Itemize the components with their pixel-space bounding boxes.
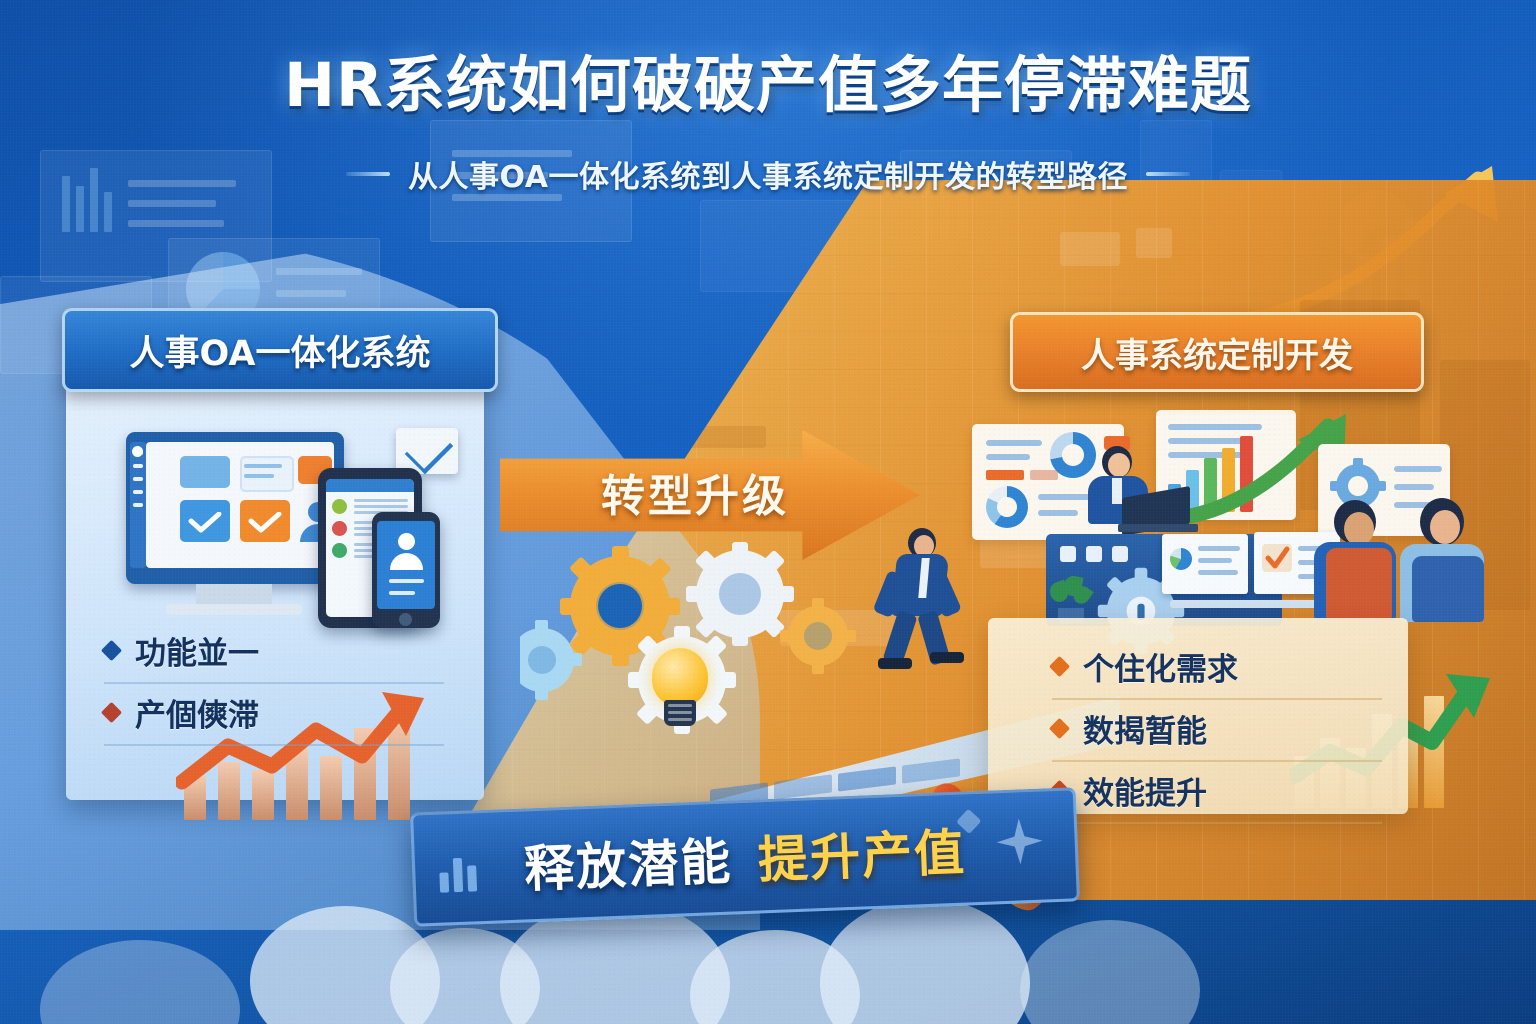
texture-overlay [0,0,1536,1024]
infographic-poster: HR系统如何破破产值多年停滞难题 从人事OA一体化系统到人事系统定制开发的转型路… [0,0,1536,1024]
